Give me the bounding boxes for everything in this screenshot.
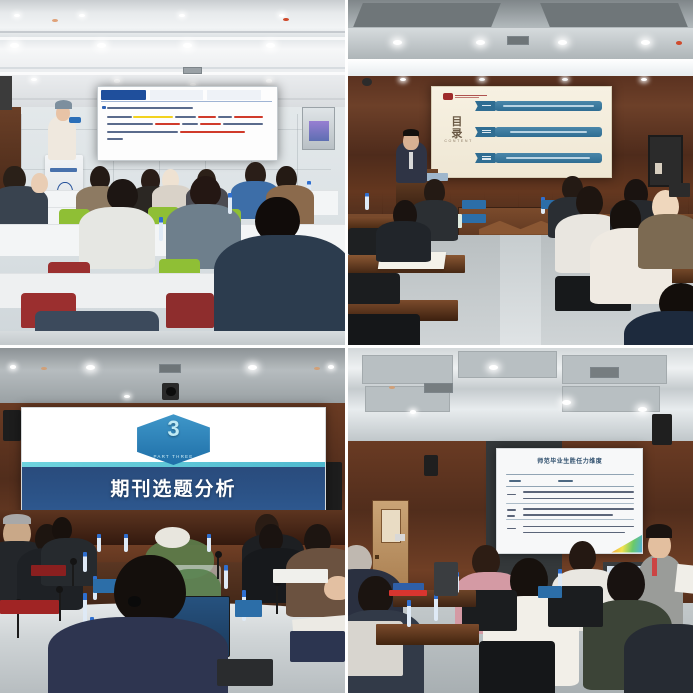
photo-bottom-right[interactable]: 师范毕业生胜任力维度 bbox=[348, 348, 693, 693]
water-bottle bbox=[83, 593, 87, 624]
name-plate bbox=[462, 214, 486, 223]
door-sign bbox=[395, 534, 405, 541]
ceiling-panel bbox=[540, 3, 688, 27]
chair bbox=[479, 641, 555, 693]
ceiling-light-icon bbox=[97, 43, 106, 48]
audience-head bbox=[576, 186, 604, 217]
audience-head bbox=[607, 562, 645, 603]
table-rule bbox=[506, 486, 634, 487]
water-bottle bbox=[365, 193, 369, 210]
slide-highlight bbox=[133, 116, 172, 118]
ceiling-light-icon bbox=[638, 407, 647, 412]
gooseneck-microphone bbox=[276, 583, 278, 614]
table-cell bbox=[523, 526, 633, 528]
floor bbox=[0, 331, 345, 345]
ceiling-beam bbox=[0, 37, 345, 40]
laptop-bag bbox=[290, 631, 345, 662]
table-cell bbox=[507, 509, 516, 511]
ceiling-light-icon bbox=[400, 78, 406, 82]
ceiling-light-icon bbox=[476, 40, 485, 45]
ceiling-beam bbox=[0, 67, 345, 69]
floral-flowers bbox=[155, 527, 190, 548]
name-plate bbox=[235, 600, 263, 617]
photo-collage: 目 录 CONTENT bbox=[0, 0, 693, 693]
wall-display bbox=[309, 121, 330, 142]
agenda-heading-en: CONTENT bbox=[444, 139, 469, 143]
section-title-cn: 期刊选题分析 bbox=[22, 474, 326, 501]
document-folder bbox=[389, 590, 427, 597]
slide-body-line bbox=[107, 116, 132, 118]
wall-picture-frame bbox=[648, 135, 683, 187]
slide-header-tab-3 bbox=[207, 90, 261, 99]
door-handle bbox=[375, 555, 378, 559]
slide-title-cn: 师范毕业生胜任力维度 bbox=[497, 456, 642, 465]
table-col-header-1 bbox=[509, 480, 521, 482]
slide-bullet-line bbox=[107, 107, 193, 109]
section-subtitle-en: PART THREE bbox=[137, 454, 210, 459]
slide-header-tab bbox=[101, 90, 146, 99]
water-bottle bbox=[407, 600, 411, 628]
water-bottle bbox=[224, 565, 228, 589]
table-rule bbox=[506, 474, 634, 475]
presentation-screen: 目 录 CONTENT bbox=[431, 86, 612, 178]
slide-emphasis bbox=[198, 116, 216, 118]
ceiling-light-icon bbox=[328, 365, 334, 369]
agenda-heading: 目 录 CONTENT bbox=[444, 112, 469, 148]
audience-head bbox=[358, 576, 393, 614]
foreground-person-head bbox=[114, 555, 186, 624]
air-vent bbox=[183, 67, 202, 74]
gooseneck-microphone bbox=[59, 590, 61, 621]
table-cell bbox=[523, 532, 624, 534]
hair-tie bbox=[128, 596, 142, 606]
table-cell bbox=[523, 491, 633, 493]
ceiling-light-icon bbox=[31, 78, 37, 82]
presentation-screen: 3 PART THREE 期刊选题分析 bbox=[21, 407, 327, 519]
document-folder bbox=[0, 600, 59, 614]
audience-head bbox=[107, 179, 138, 210]
agenda-item-3 bbox=[495, 153, 603, 164]
name-plate bbox=[538, 586, 562, 598]
tabletop-device bbox=[217, 659, 272, 687]
presentation-screen: 师范毕业生胜任力维度 bbox=[496, 448, 643, 554]
audience-body bbox=[638, 214, 693, 269]
air-vent bbox=[424, 383, 454, 394]
audience-head bbox=[569, 541, 597, 572]
ceiling-light-icon bbox=[562, 78, 568, 82]
table-col-header-2 bbox=[558, 480, 572, 482]
ceiling-light-icon bbox=[393, 40, 402, 45]
document-folder bbox=[31, 565, 66, 575]
slide-emphasis bbox=[234, 116, 263, 118]
ceiling-light-icon bbox=[410, 410, 416, 414]
water-bottle bbox=[434, 593, 438, 621]
participant-hair bbox=[3, 514, 31, 524]
audience-body bbox=[376, 221, 431, 262]
slide-rainbow-accent bbox=[605, 530, 643, 553]
slide-body-line bbox=[107, 131, 179, 133]
table-cell bbox=[523, 508, 633, 510]
wall-speaker bbox=[324, 462, 341, 514]
table-cell bbox=[507, 528, 516, 530]
ceiling-coffer bbox=[458, 351, 557, 377]
ceiling-panel bbox=[353, 3, 501, 27]
photo-top-left[interactable] bbox=[0, 0, 345, 345]
audience-body bbox=[214, 235, 345, 345]
slide-divider bbox=[101, 101, 271, 102]
table-rule bbox=[506, 503, 634, 504]
ceiling-coffer bbox=[362, 355, 454, 385]
slide-emphasis bbox=[155, 123, 180, 125]
slide-emphasis bbox=[200, 123, 222, 125]
audience-body bbox=[624, 624, 693, 693]
slide-body-line bbox=[218, 116, 232, 118]
presentation-screen bbox=[97, 86, 278, 160]
wall-speaker bbox=[0, 76, 12, 111]
ceiling-light-icon bbox=[641, 40, 650, 45]
microphone-icon bbox=[69, 117, 81, 123]
air-vent bbox=[159, 364, 182, 373]
photo-bottom-left[interactable]: 3 PART THREE 期刊选题分析 bbox=[0, 348, 345, 693]
sprinkler-icon bbox=[676, 41, 682, 45]
ceiling-light-icon bbox=[10, 365, 16, 369]
chair bbox=[348, 273, 400, 304]
ceiling-light-icon bbox=[266, 43, 275, 48]
water-bottle bbox=[207, 534, 211, 551]
slide-body-line bbox=[107, 123, 154, 125]
presenter-hair bbox=[646, 524, 672, 538]
table-cell bbox=[523, 514, 613, 516]
air-vent bbox=[507, 36, 530, 45]
foreground-person-body bbox=[48, 617, 227, 693]
table-rule bbox=[506, 519, 634, 520]
water-bottle bbox=[124, 534, 128, 551]
ceiling-light-icon bbox=[562, 400, 571, 405]
air-vent bbox=[590, 367, 620, 378]
lanyard bbox=[652, 558, 658, 575]
wall-speaker bbox=[424, 455, 438, 476]
table-cell bbox=[507, 515, 514, 517]
audience-head bbox=[31, 173, 48, 194]
water-bottle bbox=[159, 217, 163, 241]
audience-head bbox=[190, 176, 221, 207]
speaker-hat bbox=[55, 100, 72, 109]
university-logo-icon bbox=[443, 93, 490, 101]
table-cell bbox=[507, 494, 516, 496]
slide-body-line bbox=[223, 123, 262, 125]
slide-emphasis bbox=[180, 131, 245, 133]
audience-head bbox=[472, 545, 500, 576]
monitor bbox=[434, 562, 458, 597]
section-number-hexagon: 3 PART THREE bbox=[137, 414, 210, 465]
wall-speaker bbox=[652, 414, 673, 445]
ceiling-light-icon bbox=[479, 78, 485, 82]
desk bbox=[376, 624, 480, 645]
ceiling-light-icon bbox=[124, 395, 130, 399]
water-bottle bbox=[228, 193, 232, 214]
agenda-item-1 bbox=[495, 101, 603, 112]
table-cell bbox=[523, 498, 633, 500]
slide-body-line bbox=[107, 138, 123, 140]
phone-camera bbox=[669, 183, 690, 197]
water-bottle bbox=[97, 534, 101, 551]
chair bbox=[166, 293, 214, 328]
slide-body-line bbox=[182, 123, 198, 125]
ceiling-light-icon bbox=[558, 40, 567, 45]
slide-body-line bbox=[175, 116, 197, 118]
papers bbox=[273, 569, 328, 583]
water-bottle bbox=[83, 552, 87, 573]
aisle bbox=[500, 235, 541, 345]
presenter-papers bbox=[674, 564, 693, 594]
slide-bullet-marker bbox=[102, 106, 106, 109]
lanyard bbox=[409, 152, 413, 169]
ceiling-camera-icon bbox=[162, 383, 179, 400]
ceiling-light-icon bbox=[114, 79, 120, 83]
gooseneck-microphone bbox=[72, 562, 74, 586]
ceiling-light-icon bbox=[266, 79, 272, 83]
photo-top-right[interactable]: 目 录 CONTENT bbox=[348, 0, 693, 345]
jacket-print bbox=[86, 248, 134, 262]
gooseneck-microphone bbox=[217, 555, 219, 579]
slide-header-tab-2 bbox=[150, 90, 204, 99]
chair bbox=[348, 314, 420, 345]
ceiling-beam bbox=[0, 31, 345, 33]
wall-speaker bbox=[3, 410, 20, 441]
ceiling-beam bbox=[0, 72, 345, 75]
section-number: 3 bbox=[137, 418, 210, 440]
participant-body bbox=[41, 538, 96, 586]
podium-nameplate bbox=[50, 168, 77, 172]
speaker-hair bbox=[403, 129, 419, 136]
agenda-item-2 bbox=[495, 127, 603, 138]
name-plate bbox=[462, 200, 486, 209]
